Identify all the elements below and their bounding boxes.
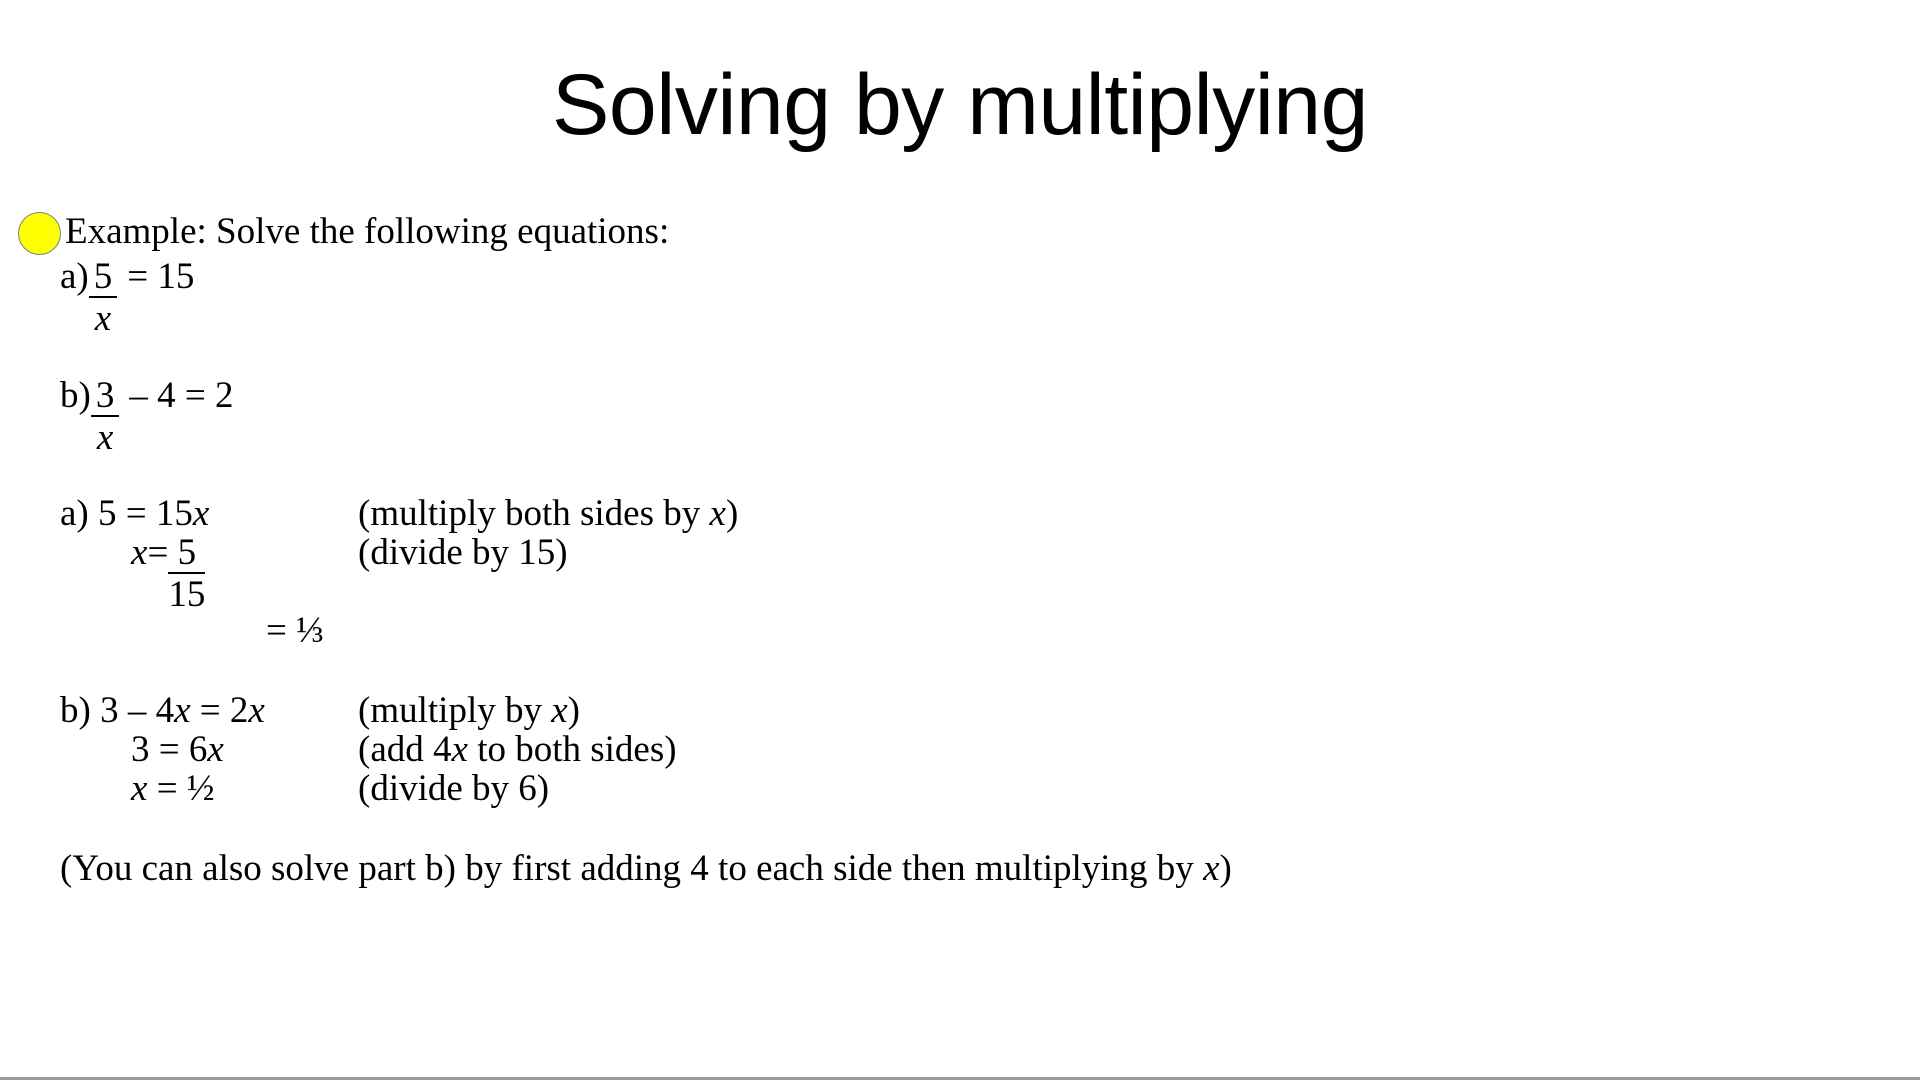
footnote-variable: x xyxy=(1203,848,1219,889)
yellow-circle-bullet-icon xyxy=(18,212,61,255)
question-a-label: a) xyxy=(60,258,89,295)
solution-b-line-3-note: (divide by 6) xyxy=(358,770,549,807)
note-prefix: (divide by 6) xyxy=(358,768,549,809)
list-item: Example: Solve the following equations: xyxy=(18,210,1898,258)
solution-a-line-2-note: (divide by 15) xyxy=(358,534,568,571)
solution-b-line-2-variable: x xyxy=(207,729,223,770)
question-a-numerator: 5 xyxy=(89,258,118,298)
question-b-rest: – 4 = 2 xyxy=(129,377,233,414)
solution-a-result: = ⅓ xyxy=(266,610,324,651)
question-b: b) 3 x – 4 = 2 xyxy=(60,377,233,456)
solution-b-line-1-expr: 3 – 4 xyxy=(100,690,174,731)
footnote-suffix: ) xyxy=(1220,848,1232,889)
question-a-fraction: 5 x xyxy=(89,258,118,337)
slide-canvas: Solving by multiplying Example: Solve th… xyxy=(0,0,1920,1080)
solution-a-line-1-variable: x xyxy=(193,493,209,534)
note-suffix: ) xyxy=(726,493,738,534)
solution-a-line-2-numerator: 5 xyxy=(168,534,205,574)
solution-b-line-1-variable-2: x xyxy=(248,690,264,731)
question-a-rest: = 15 xyxy=(127,258,194,295)
question-b-fraction: 3 x xyxy=(91,377,120,456)
solution-a-label: a) xyxy=(60,493,89,534)
solution-a-line-1-equation: a) 5 = 15x xyxy=(60,495,209,532)
solution-a-line-1-note: (multiply both sides by x) xyxy=(358,495,738,532)
solution-b-line-2-expr: 3 = 6 xyxy=(131,729,207,770)
solution-b-line-1-equation: b) 3 – 4x = 2x xyxy=(60,692,265,729)
solution-a-line-1-expr: 5 = 15 xyxy=(98,493,193,534)
solution-b-line-3-equation: x = ½ xyxy=(131,770,215,807)
solution-b-line-1-variable: x xyxy=(174,690,190,731)
note-prefix: (divide by 15) xyxy=(358,532,568,573)
question-b-denominator: x xyxy=(91,417,120,456)
question-a-denominator: x xyxy=(89,298,118,337)
note-suffix: to both sides) xyxy=(468,729,677,770)
note-variable: x xyxy=(710,493,726,534)
solution-a-line-3-equation: = ⅓ xyxy=(266,612,324,649)
solution-b-line-2-note: (add 4x to both sides) xyxy=(358,731,677,768)
solution-a-line-2-variable: x xyxy=(131,534,147,571)
solution-a-line-2-fraction: 5 15 xyxy=(168,534,205,613)
solution-b-line-1-note: (multiply by x) xyxy=(358,692,580,729)
solution-a-line-2-denominator: 15 xyxy=(168,574,205,613)
solution-a-line-2-equals: = xyxy=(147,534,168,571)
note-variable: x xyxy=(551,690,567,731)
question-b-label: b) xyxy=(60,377,91,414)
solution-b-line-3-variable: x xyxy=(131,768,147,809)
intro-text: Example: Solve the following equations: xyxy=(65,210,669,254)
question-a: a) 5 x = 15 xyxy=(60,258,194,337)
question-b-numerator: 3 xyxy=(91,377,120,417)
solution-b-line-1-mid: = 2 xyxy=(191,690,249,731)
solution-b-result: = ½ xyxy=(147,768,214,809)
footnote: (You can also solve part b) by first add… xyxy=(60,850,1232,887)
note-prefix: (multiply by xyxy=(358,690,551,731)
note-suffix: ) xyxy=(568,690,580,731)
note-variable: x xyxy=(452,729,468,770)
note-prefix: (multiply both sides by xyxy=(358,493,710,534)
page-title: Solving by multiplying xyxy=(0,62,1920,148)
slide-body: Example: Solve the following equations: … xyxy=(18,210,1898,258)
note-prefix: (add 4 xyxy=(358,729,452,770)
solution-a-line-2-equation: x = 5 15 xyxy=(131,534,205,613)
solution-b-line-2-equation: 3 = 6x xyxy=(131,731,224,768)
footnote-prefix: (You can also solve part b) by first add… xyxy=(60,848,1203,889)
solution-b-label: b) xyxy=(60,690,91,731)
